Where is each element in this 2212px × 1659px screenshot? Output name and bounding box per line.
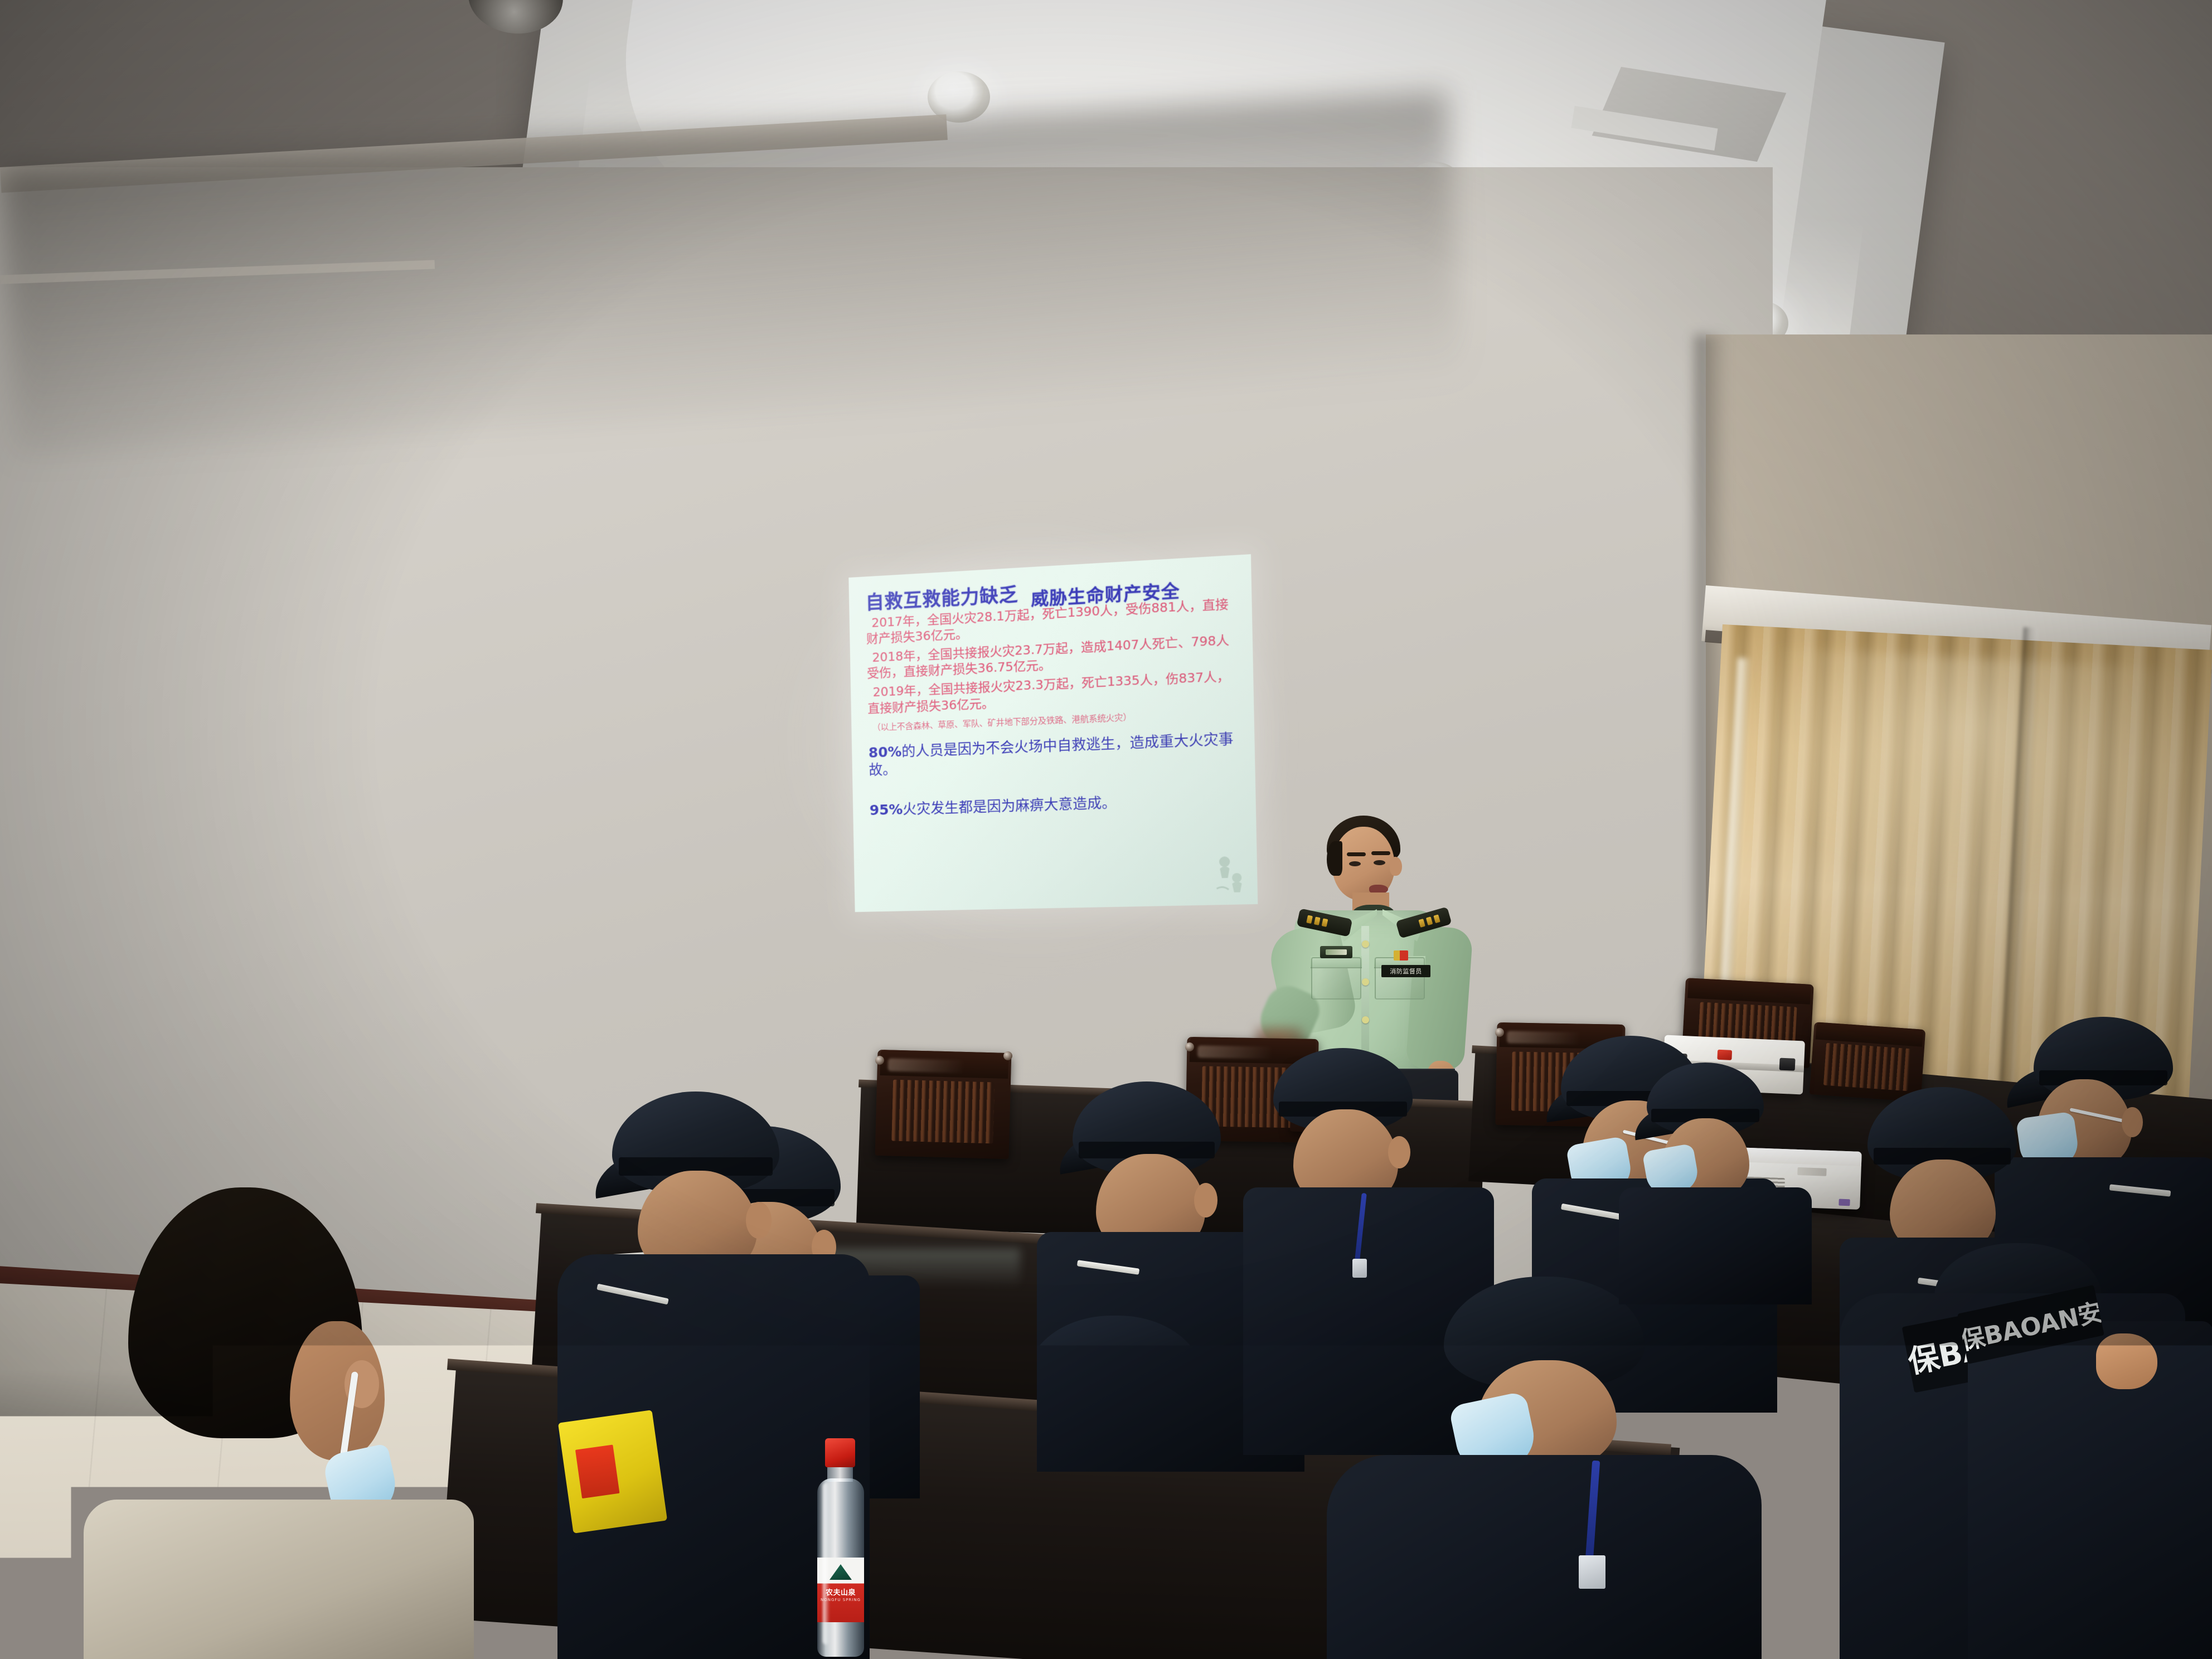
slide-point-95: 95%火灾发生都是因为麻痹大意造成。 [870, 790, 1240, 819]
chair-knob-2 [1185, 1042, 1194, 1051]
slide-point-95-text: 火灾发生都是因为麻痹大意造成。 [903, 794, 1117, 818]
presenter-brow-right [1371, 851, 1390, 855]
ear-2 [1194, 1183, 1217, 1217]
curtain-backlight-glow [1734, 646, 2203, 904]
bottle-mountain-logo-icon [829, 1564, 852, 1580]
slide-point-80-highlight: 80% [869, 744, 902, 761]
audience-member-9 [1327, 1277, 1762, 1659]
audience-member-foreground-left [84, 1187, 463, 1659]
presentation-slide: 自救互救能力缺乏威胁生命财产安全 2017年，全国火灾28.1万起，死亡1390… [848, 554, 1258, 912]
presenter-brow-left [1347, 852, 1366, 856]
foreground-person-shirt [84, 1500, 474, 1659]
chair-knob-1b [1003, 1051, 1012, 1060]
presenter-button-3 [1362, 1016, 1369, 1023]
ear-5 [2122, 1107, 2143, 1137]
water-bottle[interactable]: 农夫山泉 NONGFU SPRING [809, 1438, 871, 1659]
presenter-hair-side [1327, 841, 1342, 876]
slide-statistics-list: 2017年，全国火灾28.1万起，死亡1390人，受伤881人，直接财产损失36… [866, 596, 1238, 717]
bottle-cap[interactable] [825, 1438, 855, 1467]
projection-screen-area: 自救互救能力缺乏威胁生命财产安全 2017年，全国火灾28.1万起，死亡1390… [848, 554, 1258, 912]
conference-room-photo: 自救互救能力缺乏威胁生命财产安全 2017年，全国火灾28.1万起，死亡1390… [0, 0, 2212, 1659]
badge-card-3 [1352, 1259, 1367, 1278]
badge-card-9 [1579, 1555, 1605, 1589]
slide-point-95-highlight: 95% [870, 801, 903, 818]
presenter-ear [1390, 857, 1402, 876]
bottle-highlight [823, 1483, 829, 1645]
body-9 [1327, 1455, 1762, 1659]
audience-member-8: 保BAOAN安 [1968, 1299, 2212, 1659]
audience-member-11 [1628, 1048, 1812, 1299]
presenter-eye-right [1374, 860, 1385, 865]
presenter-nametag: 消防监督员 [1381, 965, 1430, 977]
body-8 [1968, 1321, 2212, 1659]
presenter-chest-pocket-right [1375, 957, 1425, 1000]
slide-point-80: 80%的人员是因为不会火场中自救逃生，造成重大火灾事故。 [869, 730, 1240, 779]
body-12 [937, 1399, 1282, 1659]
chair-knob-1 [875, 1056, 884, 1065]
presenter-nametag-text: 消防监督员 [1390, 967, 1422, 976]
presenter-chest-badge [1320, 946, 1352, 958]
body-11 [1619, 1187, 1812, 1304]
ear-3 [1388, 1136, 1410, 1168]
presenter-button-1 [1362, 940, 1369, 948]
armband-10 [558, 1410, 667, 1534]
bottle-neck [827, 1465, 853, 1482]
presenter-button-2 [1362, 978, 1369, 986]
presenter-chest-pocket-left [1311, 957, 1361, 1000]
audience-member-12 [937, 1316, 1282, 1659]
hand-8 [2096, 1333, 2157, 1389]
chair-knob-3 [1495, 1028, 1504, 1037]
presenter-flag-pin-icon [1394, 950, 1408, 961]
ear-10 [746, 1202, 772, 1239]
presenter-eye-left [1349, 861, 1361, 866]
slide-point-80-text: 的人员是因为不会火场中自救逃生，造成重大火灾事故。 [869, 731, 1234, 778]
